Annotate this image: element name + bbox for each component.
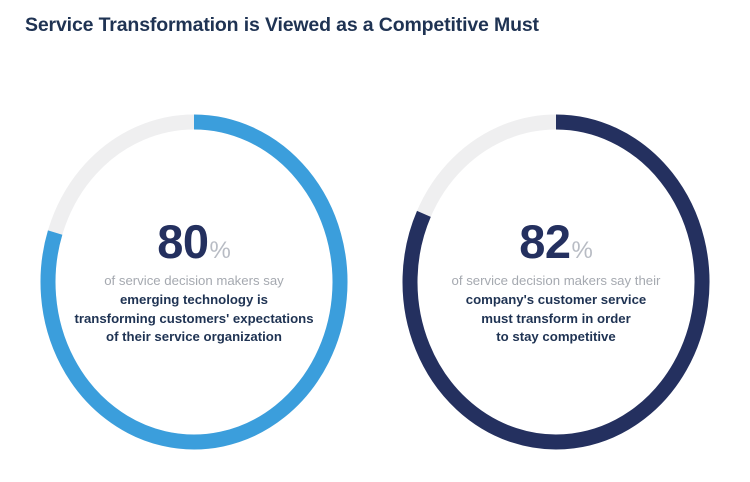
donut-80-percent-number: 80 [157,215,208,268]
donut-82-percent-sign: % [571,237,592,264]
donut-80-percent-sign: % [209,237,230,264]
donut-82-body-line-3: to stay competitive [466,328,647,346]
donut-82-center-label: 82% of service decision makers say their… [396,108,716,456]
donut-82-percent: 82% [519,218,593,265]
page-title: Service Transformation is Viewed as a Co… [25,14,539,37]
donut-80-center-label: 80% of service decision makers say emerg… [34,108,354,456]
donut-80-percent: 80% [157,218,231,265]
donut-82-body-line-1: company's customer service [466,291,647,309]
donut-82-body-text: company's customer service must transfor… [466,291,647,346]
donut-82-body-line-2: must transform in order [466,310,647,328]
donut-80-lead-text: of service decision makers say [104,272,284,290]
donut-80-body-text: emerging technology is transforming cust… [74,291,313,346]
donut-80-body-line-1: emerging technology is [74,291,313,309]
donut-chart-82: 82% of service decision makers say their… [396,108,716,456]
donut-charts-row: 80% of service decision makers say emerg… [0,108,750,468]
donut-80-body-line-3: of their service organization [74,328,313,346]
donut-82-percent-number: 82 [519,215,570,268]
donut-82-lead-text: of service decision makers say their [452,272,661,290]
donut-chart-80: 80% of service decision makers say emerg… [34,108,354,456]
donut-80-body-line-2: transforming customers' expectations [74,310,313,328]
